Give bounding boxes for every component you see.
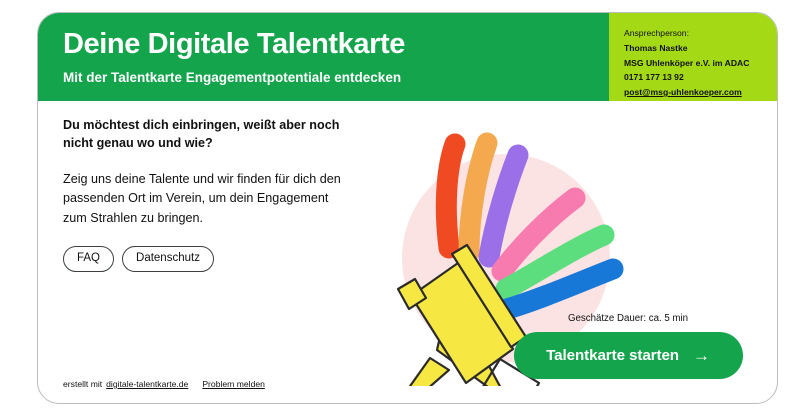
contact-label: Ansprechperson:	[624, 26, 769, 41]
card-header: Deine Digitale Talentkarte Mit der Talen…	[38, 13, 778, 101]
talentkarte-card: Deine Digitale Talentkarte Mit der Talen…	[37, 12, 778, 404]
duration-label: Geschätze Dauer: ca. 5 min	[500, 313, 756, 324]
footer-report-link[interactable]: Problem melden	[202, 379, 265, 389]
intro-paragraph: Zeig uns deine Talente und wir finden fü…	[63, 170, 353, 229]
contact-organization: MSG Uhlenköper e.V. im ADAC	[624, 56, 769, 71]
card-footer: erstellt mit digitale-talentkarte.de Pro…	[63, 379, 265, 389]
start-talentkarte-button[interactable]: Talentkarte starten →	[514, 332, 743, 379]
page-subtitle: Mit der Talentkarte Engagementpotentiale…	[63, 70, 609, 85]
arrow-right-icon: →	[693, 347, 710, 364]
contact-email-link[interactable]: post@msg-uhlenkoeper.com	[624, 87, 742, 97]
datenschutz-button[interactable]: Datenschutz	[122, 246, 214, 271]
footer-site-link[interactable]: digitale-talentkarte.de	[106, 379, 188, 389]
faq-button[interactable]: FAQ	[63, 246, 114, 271]
page-title: Deine Digitale Talentkarte	[63, 29, 609, 59]
contact-name: Thomas Nastke	[624, 41, 769, 56]
footer-prefix: erstellt mit	[63, 379, 102, 389]
link-pill-group: FAQ Datenschutz	[63, 246, 353, 271]
contact-panel: Ansprechperson: Thomas Nastke MSG Uhlenk…	[609, 13, 778, 101]
start-button-label: Talentkarte starten	[546, 347, 679, 364]
contact-phone: 0171 177 13 92	[624, 70, 769, 85]
cta-block: Geschätze Dauer: ca. 5 min Talentkarte s…	[500, 313, 756, 379]
intro-lead: Du möchtest dich einbringen, weißt aber …	[63, 117, 353, 153]
megaphone-rim-bottom	[408, 358, 449, 386]
header-title-block: Deine Digitale Talentkarte Mit der Talen…	[38, 13, 609, 101]
intro-block: Du möchtest dich einbringen, weißt aber …	[63, 117, 353, 272]
page-root: Deine Digitale Talentkarte Mit der Talen…	[0, 0, 800, 416]
